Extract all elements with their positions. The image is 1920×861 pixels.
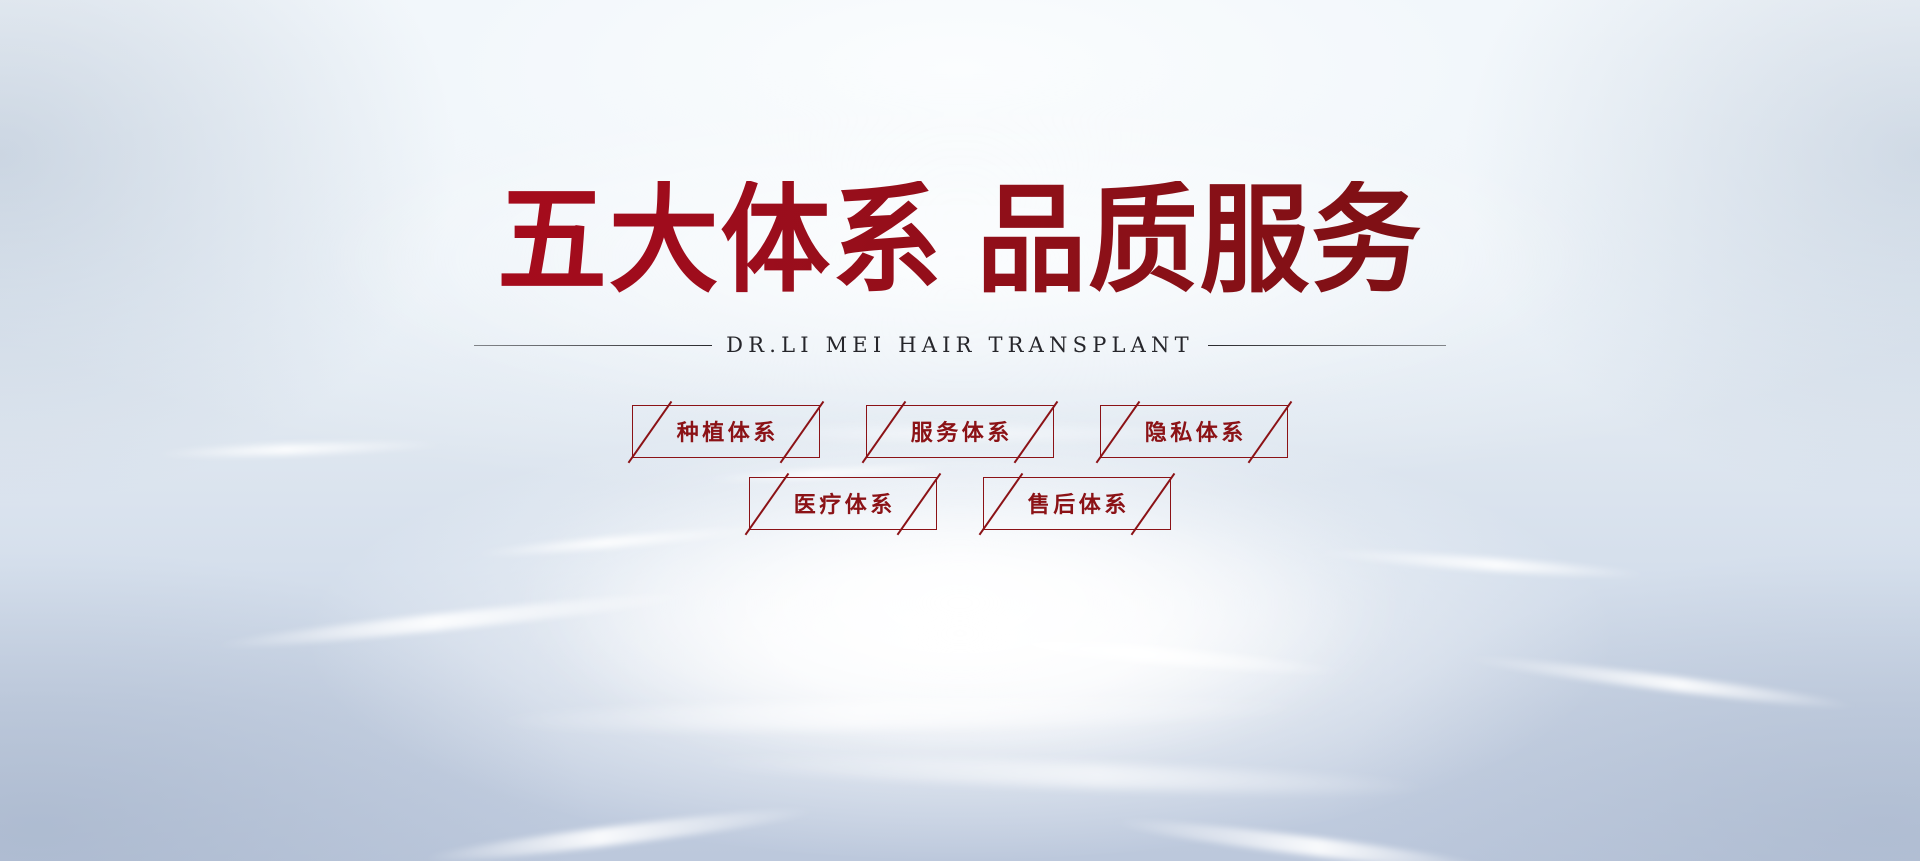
slash-left-icon — [745, 472, 789, 534]
slash-right-icon — [897, 472, 941, 534]
slash-right-icon — [1014, 400, 1058, 462]
badge-label: 服务体系 — [907, 415, 1013, 447]
badge-aftersales-system[interactable]: 售后体系 — [983, 477, 1171, 530]
page-title: 五大体系品质服务 — [67, 181, 1853, 299]
subtitle: DR.LI MEI HAIR TRANSPLANT — [726, 333, 1194, 357]
slash-left-icon — [1096, 400, 1140, 462]
divider-right — [1208, 345, 1446, 346]
badge-planting-system[interactable]: 种植体系 — [632, 405, 820, 458]
headline-part-2: 品质服务 — [976, 170, 1422, 309]
slash-left-icon — [979, 472, 1023, 534]
subtitle-row: DR.LI MEI HAIR TRANSPLANT — [0, 333, 1920, 357]
badge-label: 售后体系 — [1024, 487, 1130, 519]
badge-privacy-system[interactable]: 隐私体系 — [1100, 405, 1288, 458]
banner-content: 五大体系品质服务 DR.LI MEI HAIR TRANSPLANT 种植体系 … — [0, 0, 1920, 861]
slash-left-icon — [862, 400, 906, 462]
slash-right-icon — [780, 400, 824, 462]
badge-row-1: 种植体系 服务体系 隐私体系 — [632, 405, 1288, 458]
badge-group: 种植体系 服务体系 隐私体系 医疗体系 — [0, 405, 1920, 530]
divider-left — [474, 345, 712, 346]
headline-part-1: 五大体系 — [497, 170, 943, 309]
slash-right-icon — [1131, 472, 1175, 534]
slash-left-icon — [628, 400, 672, 462]
badge-service-system[interactable]: 服务体系 — [866, 405, 1054, 458]
promo-banner: 五大体系品质服务 DR.LI MEI HAIR TRANSPLANT 种植体系 … — [0, 0, 1920, 861]
slash-right-icon — [1248, 400, 1292, 462]
badge-label: 隐私体系 — [1141, 415, 1247, 447]
badge-label: 种植体系 — [673, 415, 779, 447]
badge-medical-system[interactable]: 医疗体系 — [749, 477, 937, 530]
badge-label: 医疗体系 — [790, 487, 896, 519]
badge-row-2: 医疗体系 售后体系 — [749, 477, 1171, 530]
